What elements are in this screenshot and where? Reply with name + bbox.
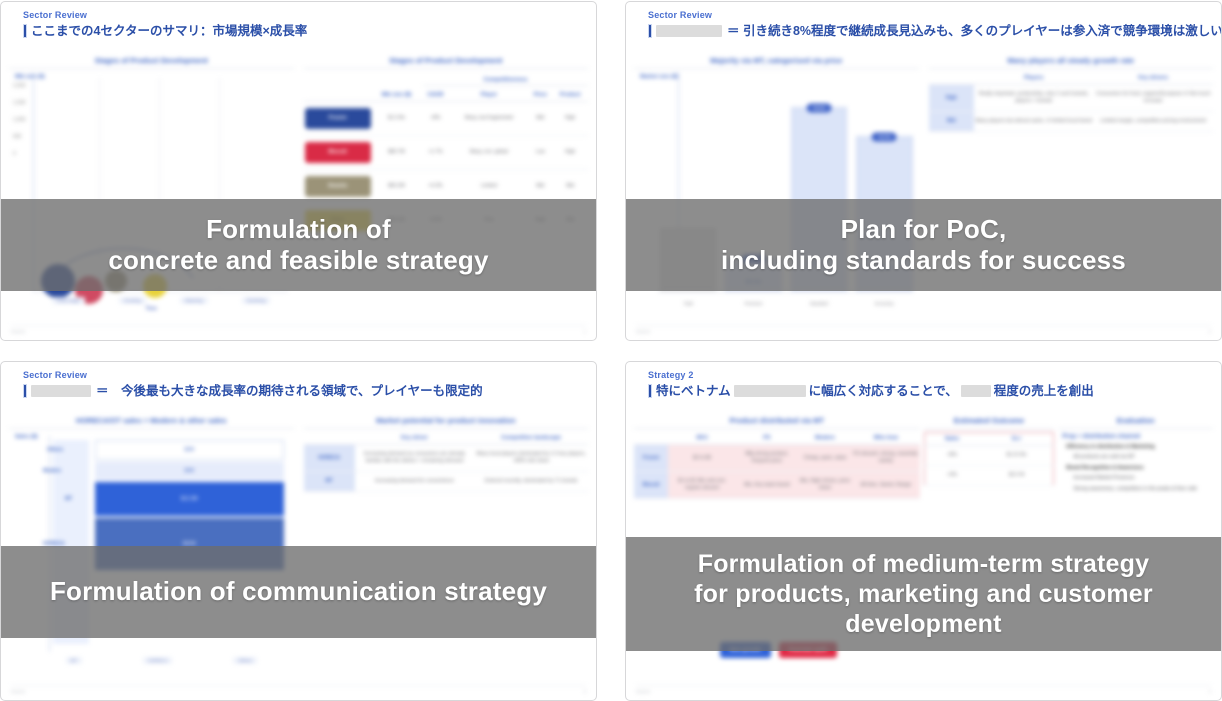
slide-footer: Source 3 — [11, 685, 586, 694]
footer-source: Source — [11, 329, 25, 334]
row-label: Biscuit — [643, 482, 660, 488]
cell: Many local players dominated by 2-3 key … — [474, 445, 588, 472]
row-chip-cell: Frozen — [634, 445, 668, 472]
cell: Mid — [528, 102, 552, 136]
headline-text: に幅広く対応することで、 — [809, 383, 958, 399]
cell: All time, Sweet, Range — [852, 472, 919, 499]
slide-body-1: Stages of Product Development Mkt size (… — [1, 48, 596, 340]
cell: High — [552, 102, 588, 136]
cell: Many, incl. global — [450, 136, 529, 170]
pane-title: HORECA/OT sales > Modern & other sales — [9, 412, 294, 429]
redacted-block — [961, 385, 991, 397]
slide-card-2[interactable]: Sector Review ＝ 引き続き8%程度で継続成長見込みも、多くのプレイ… — [625, 1, 1222, 341]
bullet-item: Strong awareness, competitors in the pea… — [1066, 485, 1213, 493]
cell: $1.01 Bn — [980, 446, 1054, 466]
cell: +8% — [421, 102, 449, 136]
table-row: +3% $2.0 M — [924, 466, 1054, 486]
x-tick-labels: Early stage Growing Maturing Declining — [35, 297, 288, 304]
slide-card-1[interactable]: Sector Review ここまでの4セクターのサマリ：市場規模×成長率 St… — [0, 1, 597, 341]
footer-page-number: 1 — [583, 329, 586, 334]
row-chip: Frozen — [305, 108, 371, 129]
cell: Consumers for food, organic/European ※ N… — [1094, 85, 1214, 112]
caption-overlay-1: Formulation of concrete and feasible str… — [1, 199, 596, 291]
col-head — [634, 432, 668, 445]
table-row: Biscuit $80.7M +1.7% Many, incl. global … — [304, 136, 589, 170]
row-chip-cell: High — [929, 85, 975, 112]
caption-overlay-4: Formulation of medium-term strategy for … — [626, 537, 1221, 651]
col-head: Mkt size ($) — [372, 89, 421, 102]
slide-headline: ＝ 引き続き8%程度で継続成長見込みも、多くのプレイヤーは参入済で競争環境は激し… — [648, 23, 1221, 39]
slide-footer: Source 4 — [636, 685, 1211, 694]
evaluation-header: Prop + distribution channel — [1062, 434, 1213, 440]
caption-overlay-2: Plan for PoC, including standards for su… — [626, 199, 1221, 291]
redacted-block — [656, 25, 722, 37]
x-axis-caption: Time — [9, 306, 294, 312]
bar-mt: $12.2M — [95, 482, 284, 516]
cell: +3% — [924, 466, 980, 486]
col-head: Sales — [924, 433, 980, 446]
row-label: HORECA — [318, 455, 340, 461]
table-header-row: Mkt size ($) CAGR Player Price Product — [304, 89, 589, 102]
cell: High — [552, 136, 588, 170]
x-axis-line — [658, 291, 913, 292]
col-head — [304, 432, 355, 445]
slide-header-1: Sector Review ここまでの4セクターのサマリ：市場規模×成長率 — [1, 2, 596, 39]
cell: Entered recently, dominated by T1 brands — [474, 472, 588, 492]
y-tick-labels: 2,000 1,500 1,000 500 0 — [13, 78, 26, 163]
bar-badge: +5.7% — [872, 133, 897, 142]
caption-text: Formulation of communication strategy — [40, 576, 557, 607]
footer-source: Source — [636, 329, 650, 334]
cell: Increasing demand as consumers are alrea… — [355, 445, 474, 472]
caption-text: Formulation of concrete and feasible str… — [98, 214, 498, 276]
cell: $1.5 Bn — [372, 102, 421, 136]
potential-table: Key driver Competitive landscape HORECA … — [304, 432, 589, 492]
cell: Many players but almost same, ※ limited … — [974, 112, 1093, 132]
footer-page-number: 3 — [583, 689, 586, 694]
y-axis-label: Market size ($) — [640, 74, 919, 80]
bullet-item: All products are sold via MT — [1066, 453, 1213, 461]
footer-page-number: 4 — [1208, 689, 1211, 694]
evaluation-bullets: Efficiency in distribution & Marketing A… — [1058, 443, 1213, 493]
cell: Mfg strong product, frequent price — [736, 445, 798, 472]
bullet-item: Brand Recognition & Awareness — [1066, 464, 1213, 472]
slide-headline: 特にベトナム に幅広く対応することで、 程度の売上を創出 — [648, 383, 1221, 399]
row-label: MT — [325, 478, 332, 484]
slide-card-3[interactable]: Sector Review ＝ 今後最も大きな成長率の期待される領域で、プレイヤ… — [0, 361, 597, 701]
headline-text: ＝ 引き続き8%程度で継続成長見込みも、多くのプレイヤーは参入済で競争環境は激し… — [727, 23, 1222, 39]
table-row: High Really important, productivity, onl… — [929, 85, 1214, 112]
row-label: High — [946, 95, 957, 101]
cell: $1 to $1 Mix sets incl. organic dessert — [668, 472, 736, 499]
footer-source: Source — [636, 689, 650, 694]
cell: Really important, productivity, only 2 s… — [974, 85, 1093, 112]
col-head: Key drivers — [1094, 72, 1214, 85]
slide-footer: Source 2 — [636, 325, 1211, 334]
col-head: Product — [552, 89, 588, 102]
col-head: Key driver — [355, 432, 474, 445]
table-row: HORECA Increasing demand as consumers ar… — [304, 445, 589, 472]
row-label: Others — [47, 447, 63, 453]
col-head: Player — [450, 89, 529, 102]
caption-text: Formulation of medium-term strategy for … — [684, 549, 1163, 639]
row-label: Frozen — [643, 455, 659, 461]
row-label: Mid — [947, 118, 956, 124]
pane-title: Many players all steady growth rate — [929, 52, 1214, 69]
row-chip-cell: HORECA — [304, 445, 355, 472]
col-head — [929, 72, 975, 85]
headline-text: ここまでの4セクターのサマリ：市場規模×成長率 — [31, 23, 307, 39]
cell: +8% — [924, 446, 980, 466]
row-chip: Biscuit — [305, 142, 371, 163]
headline-text: 特にベトナム — [656, 383, 731, 399]
bar-modern: $4M — [95, 462, 284, 480]
table-row: +8% $1.01 Bn — [924, 446, 1054, 466]
cell: Mix, High choice, price share — [798, 472, 852, 499]
col-head: Modern — [798, 432, 852, 445]
cell: Mix, Key taste brand — [736, 472, 798, 499]
table-row: Biscuit $1 to $1 Mix sets incl. organic … — [634, 472, 920, 499]
headline-text: ＝ 今後最も大きな成長率の期待される領域で、プレイヤーも限定的 — [96, 383, 483, 399]
row-chip: Snacks — [305, 176, 371, 197]
slide-eyebrow: Strategy 2 — [648, 370, 1221, 381]
pane-title: Product distributed via MT — [634, 412, 920, 429]
redacted-block — [734, 385, 806, 397]
table-header-row: Key driver Competitive landscape — [304, 432, 589, 445]
slide-eyebrow: Sector Review — [23, 370, 596, 381]
col-head: CAGR — [421, 89, 449, 102]
slide-eyebrow: Sector Review — [23, 10, 596, 21]
row-label: Modern — [43, 468, 61, 474]
outcome-table: Sales Gr.r +8% $1.01 Bn +3% $2.0 M — [924, 432, 1055, 486]
col-head — [304, 89, 372, 102]
slide-header-4: Strategy 2 特にベトナム に幅広く対応することで、 程度の売上を創出 — [626, 362, 1221, 399]
col-head: PX — [736, 432, 798, 445]
caption-text: Plan for PoC, including standards for su… — [711, 214, 1136, 276]
footer-source: Source — [11, 689, 25, 694]
pane-title: Estimated Outcome — [924, 412, 1055, 429]
table-header-row: Sales Gr.r — [924, 433, 1054, 446]
row-chip-cell: Biscuit — [634, 472, 668, 499]
col-head: Who how — [852, 432, 919, 445]
cell: Many, but fragmented — [450, 102, 529, 136]
slide-header-2: Sector Review ＝ 引き続き8%程度で継続成長見込みも、多くのプレイ… — [626, 2, 1221, 39]
pane-title: Stages of Product Development — [9, 52, 294, 69]
headline-accent-bar — [648, 24, 652, 38]
slide-card-4[interactable]: Strategy 2 特にベトナム に幅広く対応することで、 程度の売上を創出 … — [625, 361, 1222, 701]
players-table: Players Key drivers High Really importan… — [929, 72, 1214, 132]
cell: $2 to $5 — [668, 445, 736, 472]
footer-page-number: 2 — [1208, 329, 1211, 334]
cell: FG dessert, strong, essential, variety — [852, 445, 919, 472]
row-chip-cell: MT — [304, 472, 355, 492]
slide-body-2: Majority via MT, categorised via price M… — [626, 48, 1221, 340]
slide-headline: ここまでの4セクターのサマリ：市場規模×成長率 — [23, 23, 596, 39]
headline-accent-bar — [23, 24, 27, 38]
table-group-header: Competitiveness — [423, 77, 588, 86]
x-tick-labels: MT HORECA Others — [35, 657, 288, 664]
cell: Limited margin, competitive pricing envi… — [1094, 112, 1214, 132]
pane-title: Majority via MT, categorised via price — [634, 52, 919, 69]
col-head: Price — [528, 89, 552, 102]
y-axis-label: Mkt size ($) — [15, 74, 294, 80]
slide-gallery: Sector Review ここまでの4セクターのサマリ：市場規模×成長率 St… — [0, 0, 1222, 701]
row-chip-cell: Biscuit — [304, 136, 372, 170]
cell: +1.7% — [421, 136, 449, 170]
product-matrix-table: SKU PX Modern Who how Frozen $2 to $5 Mf… — [634, 432, 920, 499]
row-chip-cell: Mid — [929, 112, 975, 132]
bar-x-labels: Total Premium Standard Economy — [660, 301, 913, 306]
table-header-row: Players Key drivers — [929, 72, 1214, 85]
row-chip-cell: Frozen — [304, 102, 372, 136]
table-row: Frozen $1.5 Bn +8% Many, but fragmented … — [304, 102, 589, 136]
slide-eyebrow: Sector Review — [648, 10, 1221, 21]
cell: Increasing demand for convenience — [355, 472, 474, 492]
headline-text: 程度の売上を創出 — [994, 383, 1094, 399]
bullet-item: Increased Market Presence — [1066, 474, 1213, 482]
slide-header-3: Sector Review ＝ 今後最も大きな成長率の期待される領域で、プレイヤ… — [1, 362, 596, 399]
cell: $80.7M — [372, 136, 421, 170]
bullet-item: Efficiency in distribution & Marketing — [1066, 443, 1213, 451]
row-label: MT — [65, 496, 72, 502]
slide-headline: ＝ 今後最も大きな成長率の期待される領域で、プレイヤーも限定的 — [23, 383, 596, 399]
caption-overlay-3: Formulation of communication strategy — [1, 546, 596, 638]
cell: Low — [528, 136, 552, 170]
table-row: MT Increasing demand for convenience Ent… — [304, 472, 589, 492]
col-head: Gr.r — [980, 433, 1054, 446]
table-row: Frozen $2 to $5 Mfg strong product, freq… — [634, 445, 920, 472]
pane-title: Stages of Product Development — [304, 52, 589, 69]
col-head: Competitive landscape — [474, 432, 588, 445]
table-header-row: SKU PX Modern Who how — [634, 432, 920, 445]
bar-badge: +8.2% — [806, 104, 831, 113]
headline-accent-bar — [23, 384, 27, 398]
redacted-block — [31, 385, 91, 397]
slide-footer: Source 1 — [11, 325, 586, 334]
col-head: SKU — [668, 432, 736, 445]
pane-title: Market potential for product innovation — [304, 412, 589, 429]
headline-accent-bar — [648, 384, 652, 398]
col-head: Players — [974, 72, 1093, 85]
cell: Cheap, pack, value — [798, 445, 852, 472]
bar-others: $2M — [95, 440, 284, 460]
table-row: Mid Many players but almost same, ※ limi… — [929, 112, 1214, 132]
cell: $2.0 M — [980, 466, 1054, 486]
pane-title: Evaluation — [1058, 412, 1213, 429]
